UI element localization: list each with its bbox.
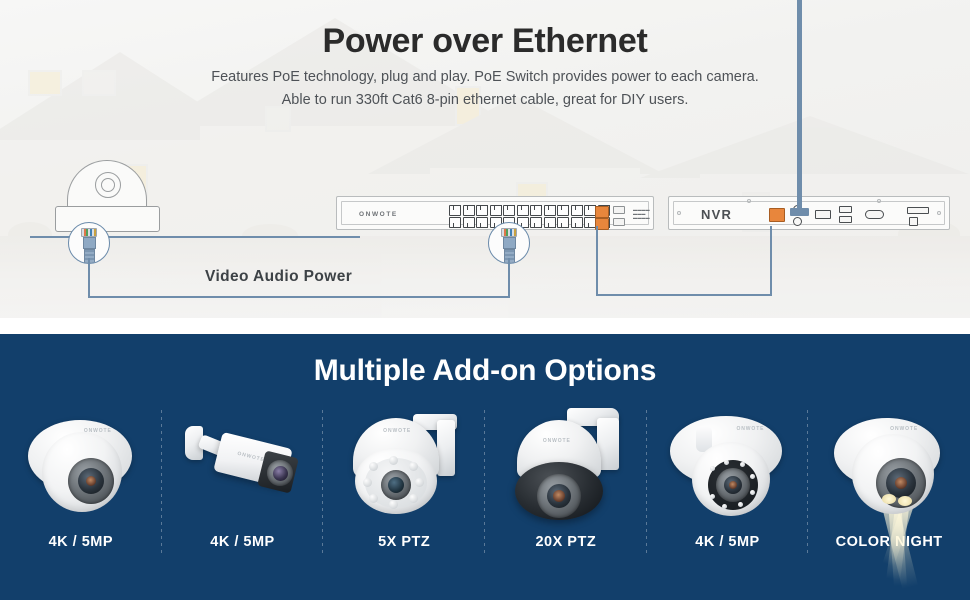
vap-bracket-right <box>508 258 510 298</box>
rj45-port <box>530 205 542 216</box>
nvr-screw <box>937 211 941 215</box>
nvr-usb-port <box>839 216 852 223</box>
addon-camera-label: 4K / 5MP <box>210 534 274 550</box>
vap-bracket-bottom <box>88 296 510 298</box>
addon-camera-item-ptz-large[interactable]: ONWOTE 20X PTZ <box>485 406 647 596</box>
rj45-port <box>557 205 569 216</box>
ptz-large-camera-image: ONWOTE <box>501 406 631 524</box>
switch-port-row-top <box>449 205 610 216</box>
switch-port-row-bottom <box>449 217 610 228</box>
camera-brand-label: ONWOTE <box>543 438 571 444</box>
poe-section: Power over Ethernet Features PoE technol… <box>0 0 970 318</box>
rj45-port <box>544 205 556 216</box>
addon-camera-item-dome-eyeball[interactable]: ONWOTE 4K / 5MP <box>647 406 809 596</box>
addon-section-title: Multiple Add-on Options <box>0 354 970 388</box>
switch-sfp-slot-1 <box>613 206 625 214</box>
cable-label: Video Audio Power <box>205 268 352 286</box>
switch-sfp-slot-2 <box>613 218 625 226</box>
rj45-port <box>476 217 488 228</box>
addon-camera-grid: ONWOTE 4K / 5MP ONWOTE 4K / 5MP <box>0 406 970 596</box>
nvr-usb-port <box>839 206 852 213</box>
nvr-label: NVR <box>701 207 732 222</box>
uplink-wire-switch <box>596 226 598 296</box>
rj45-port <box>530 217 542 228</box>
poe-switch-device: ONWOTE ▬▬▬▬▬▬▬▬▬▬▬ <box>336 196 654 230</box>
rj45-port <box>463 217 475 228</box>
nvr-vga-port <box>865 210 884 219</box>
nvr-screw <box>677 211 681 215</box>
camera-brand-label: ONWOTE <box>84 428 112 434</box>
hdmi-cable <box>797 0 802 216</box>
switch-brand-label: ONWOTE <box>359 211 398 218</box>
addon-camera-label: 4K / 5MP <box>49 534 113 550</box>
color-night-camera-image: ONWOTE <box>824 406 954 524</box>
addon-camera-item-bullet[interactable]: ONWOTE 4K / 5MP <box>162 406 324 596</box>
rj45-port <box>571 205 583 216</box>
rj45-port <box>463 205 475 216</box>
nvr-bnc-connector <box>793 217 802 226</box>
switch-uplink-port-1 <box>595 206 609 218</box>
section-divider <box>0 318 970 334</box>
rj45-port <box>557 217 569 228</box>
rj45-port <box>503 205 515 216</box>
addon-camera-label: 20X PTZ <box>535 534 596 550</box>
bullet-camera-image: ONWOTE <box>177 406 307 524</box>
nvr-hdmi-port <box>815 210 831 219</box>
nvr-screw <box>877 199 881 203</box>
ptz-small-camera-image: ONWOTE <box>339 406 469 524</box>
nvr-device: NVR <box>668 196 950 230</box>
rj45-port <box>449 217 461 228</box>
addon-camera-item-ptz-small[interactable]: ONWOTE 5X PTZ <box>323 406 485 596</box>
nvr-lan-port <box>769 208 785 222</box>
addon-camera-item-color-night[interactable]: ONWOTE COLOR NIGHT <box>808 406 970 596</box>
nvr-audio-port <box>909 217 918 226</box>
rj45-port <box>476 205 488 216</box>
hdmi-cable-plug <box>790 208 809 216</box>
rj45-port <box>517 205 529 216</box>
nvr-power-port <box>907 207 929 214</box>
nvr-screw <box>747 199 751 203</box>
poe-product-infographic: Power over Ethernet Features PoE technol… <box>0 0 970 600</box>
turret-camera-image: ONWOTE <box>16 406 146 524</box>
dome-camera-lens-inner <box>101 178 115 192</box>
poe-subtitle: Features PoE technology, plug and play. … <box>0 66 970 112</box>
dome-eyeball-camera-image: ONWOTE <box>662 406 792 524</box>
addon-options-section: Multiple Add-on Options ONWOTE 4K / 5MP <box>0 334 970 600</box>
camera-brand-label: ONWOTE <box>736 426 764 432</box>
poe-subtitle-line-2: Able to run 330ft Cat6 8-pin ethernet ca… <box>0 89 970 112</box>
rj45-port <box>490 205 502 216</box>
dome-camera-base <box>55 206 160 232</box>
vap-bracket-left <box>88 258 90 298</box>
camera-brand-label: ONWOTE <box>383 428 411 434</box>
uplink-wire-bottom <box>596 294 772 296</box>
camera-brand-label: ONWOTE <box>890 426 918 432</box>
poe-subtitle-line-1: Features PoE technology, plug and play. … <box>0 66 970 89</box>
addon-camera-item-turret[interactable]: ONWOTE 4K / 5MP <box>0 406 162 596</box>
switch-led-indicators: ▬▬▬▬▬▬▬▬▬▬▬ <box>633 208 650 220</box>
addon-camera-label: 5X PTZ <box>378 534 430 550</box>
rj45-port <box>571 217 583 228</box>
uplink-wire-nvr <box>770 226 772 296</box>
rj45-port <box>544 217 556 228</box>
dome-camera-outline <box>55 160 160 232</box>
addon-camera-label: 4K / 5MP <box>695 534 759 550</box>
rj45-port <box>449 205 461 216</box>
poe-title: Power over Ethernet <box>0 22 970 61</box>
